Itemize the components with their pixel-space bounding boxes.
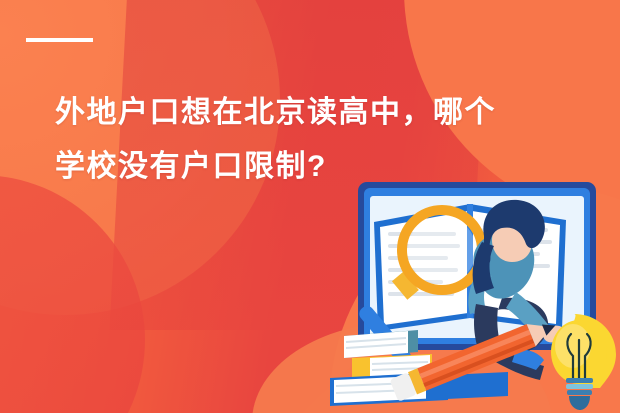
online-learning-illustration	[330, 170, 620, 413]
light-bulb-icon	[551, 314, 616, 410]
headline-line-2: 学校没有户口限制?	[55, 140, 556, 194]
headline-block: 外地户口想在北京读高中，哪个 学校没有户口限制?	[26, 38, 556, 194]
promo-banner: 外地户口想在北京读高中，哪个 学校没有户口限制?	[0, 0, 620, 413]
headline-line-1: 外地户口想在北京读高中，哪个	[55, 86, 556, 140]
background-blob-left-bottom	[0, 175, 145, 413]
accent-rule-decoration	[26, 38, 93, 42]
